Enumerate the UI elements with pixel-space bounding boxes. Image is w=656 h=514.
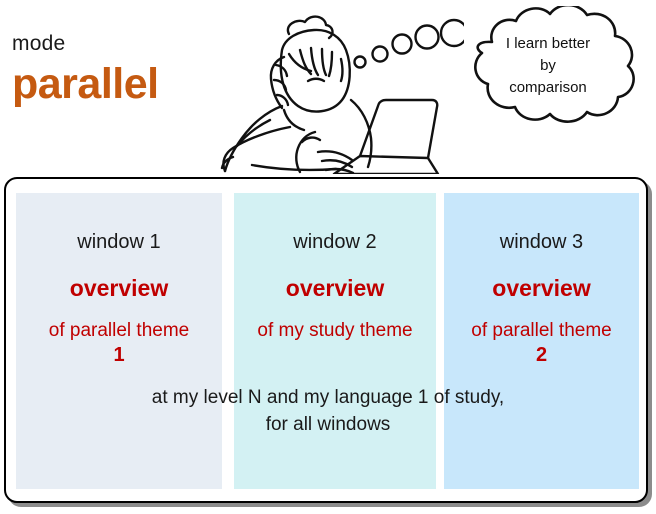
overview-detail-number: 2: [444, 343, 639, 368]
windows-panel: window 1 overview of parallel theme 1 wi…: [4, 177, 648, 503]
bubble-line-1: I learn better: [474, 33, 622, 55]
overview-detail: of my study theme: [234, 318, 436, 343]
window-title: window 1: [16, 231, 222, 254]
window-column-1[interactable]: window 1 overview of parallel theme 1: [16, 193, 222, 489]
overview-label: overview: [16, 275, 222, 302]
window-column-3[interactable]: window 3 overview of parallel theme 2: [444, 193, 639, 489]
overview-detail-number: 1: [16, 343, 222, 368]
bubble-line-3: comparison: [474, 77, 622, 99]
overview-detail-text: of my study theme: [257, 320, 412, 341]
overview-label: overview: [444, 275, 639, 302]
overview-detail-text: of parallel theme: [471, 320, 611, 341]
thought-bubble-text: I learn better by comparison: [474, 33, 622, 99]
window-title: window 2: [234, 231, 436, 254]
window-title: window 3: [444, 231, 639, 254]
mode-label: mode: [12, 32, 65, 56]
overview-detail: of parallel theme 1: [16, 318, 222, 368]
bubble-line-2: by: [474, 55, 622, 77]
mode-value: parallel: [12, 63, 159, 106]
overview-detail: of parallel theme 2: [444, 318, 639, 368]
overview-detail-text: of parallel theme: [49, 320, 189, 341]
header-area: mode parallel: [0, 0, 656, 178]
window-column-2[interactable]: window 2 overview of my study theme: [234, 193, 436, 489]
overview-label: overview: [234, 275, 436, 302]
